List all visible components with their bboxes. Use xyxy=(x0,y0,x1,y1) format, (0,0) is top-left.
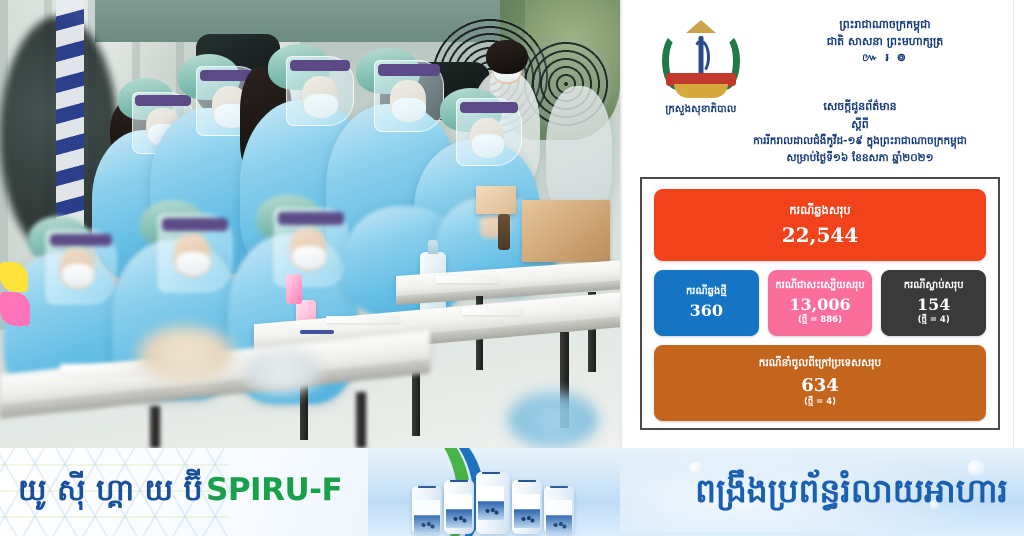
photo-faceshield-d xyxy=(374,60,444,132)
stat-imported-cases: ករណីនាំចូលពីក្រៅប្រទេសសរុប 634 (ថ្មី = 4… xyxy=(654,345,986,421)
stat-recovered-label: ករណីជាសះស្បើយសរុប xyxy=(775,279,864,292)
document-left-shadow xyxy=(620,0,623,448)
banner-brand-name: SPIRU-F xyxy=(206,472,342,508)
photo-foreground-blur-glove xyxy=(244,350,320,394)
photo-pen-1 xyxy=(300,330,334,334)
photo-paper-4 xyxy=(60,364,150,373)
stat-deaths-sub: (ថ្មី = 4) xyxy=(918,315,950,327)
emblem-torch-icon xyxy=(686,20,716,33)
product-bottle-2 xyxy=(444,480,474,534)
nation-title-line: ព្រះរាជាណាចក្រកម្ពុជា xyxy=(750,16,1020,33)
photo-cardboard-box-2 xyxy=(476,186,516,214)
bottle-label-3 xyxy=(478,486,504,520)
stat-new-cases-value: 360 xyxy=(690,301,723,320)
stat-imported-cases-label: ករណីនាំចូលពីក្រៅប្រទេសសរុប xyxy=(759,357,881,371)
bottle-label-1 xyxy=(414,500,440,534)
photo-person-background-2 xyxy=(546,86,612,216)
stat-recovered-sub: (ថ្មី = 886) xyxy=(798,315,842,327)
covid-testing-photo xyxy=(0,0,620,448)
photo-paper-2 xyxy=(326,316,400,323)
page-root: ក្រសួងសុខាភិបាល ព្រះរាជាណាចក្រកម្ពុជា ជា… xyxy=(0,0,1024,536)
stat-new-cases: ករណីឆ្លងថ្មី 360 xyxy=(654,270,759,336)
photo-faceshield-e xyxy=(456,98,522,166)
bottle-cap-4 xyxy=(518,480,536,482)
photo-yellow-marker xyxy=(0,262,28,292)
photo-pink-marker xyxy=(0,292,30,326)
photo-dark-vial xyxy=(498,214,510,250)
press-release-title-block: សេចក្ដីជូនព័ត៌មាន ស្ដីពី ការរីករាលដាលជំង… xyxy=(700,98,1020,167)
stat-total-cases: ករណីឆ្លងសរុប 22,544 xyxy=(654,189,986,261)
photo-mask-h xyxy=(292,246,326,270)
product-bottle-4 xyxy=(512,480,542,534)
nation-ornament: ៚ ៛ ៙ xyxy=(750,50,1020,65)
photo-shoe-cover xyxy=(508,392,598,448)
banner-product-bottles xyxy=(408,456,608,536)
title-date-line: សម្រាប់ថ្ងៃទី១៦ ខែឧសភា ឆ្នាំ២០២១ xyxy=(700,150,1020,167)
nation-motto-line: ជាតិ សាសនា ព្រះមហាក្សត្រ xyxy=(750,33,1020,50)
ministry-health-emblem-icon xyxy=(658,20,744,98)
photo-faceshield-c xyxy=(286,56,354,126)
bottle-cap-5 xyxy=(550,486,568,488)
bottle-cap-3 xyxy=(482,472,500,474)
photo-table-leg-6 xyxy=(356,392,366,448)
stat-new-cases-label: ករណីឆ្លងថ្មី xyxy=(686,285,727,298)
photo-paper-1 xyxy=(436,276,498,283)
product-bottle-1 xyxy=(412,486,442,534)
national-motto-block: ព្រះរាជាណាចក្រកម្ពុជា ជាតិ សាសនា ព្រះមហា… xyxy=(750,16,1020,65)
stat-imported-cases-value: 634 xyxy=(801,375,839,396)
stats-row-three: ករណីឆ្លងថ្មី 360 ករណីជាសះស្បើយសរុប 13,00… xyxy=(654,270,986,336)
photo-foreground-blur-object xyxy=(138,326,234,382)
product-bottle-5 xyxy=(544,486,574,534)
photo-mask-g xyxy=(176,252,210,276)
product-bottle-3 xyxy=(476,472,510,534)
photo-table-leg-7 xyxy=(150,406,160,448)
covid-statistics-frame: ករណីឆ្លងសរុប 22,544 ករណីឆ្លងថ្មី 360 ករណ… xyxy=(640,177,1000,430)
photo-pink-nozzle xyxy=(286,274,302,304)
photo-cardboard-box xyxy=(522,200,610,262)
bottle-label-2 xyxy=(446,494,472,528)
advertisement-banner[interactable]: យូ ស៊ី ហ្គា យ ប៊ី SPIRU-F xyxy=(0,448,1024,536)
title-line-1: សេចក្ដីជូនព័ត៌មាន xyxy=(700,98,1020,116)
bottle-cap-1 xyxy=(418,486,436,488)
stat-recovered: ករណីជាសះស្បើយសរុប 13,006 (ថ្មី = 886) xyxy=(768,270,873,336)
bottle-label-5 xyxy=(546,500,572,534)
stat-recovered-value: 13,006 xyxy=(789,295,850,314)
title-line-2: ស្ដីពី xyxy=(700,116,1020,134)
stat-deaths-value: 154 xyxy=(917,295,950,314)
stat-deaths: ករណីស្លាប់សរុប 154 (ថ្មី = 4) xyxy=(881,270,986,336)
stat-imported-cases-sub: (ថ្មី = 4) xyxy=(804,397,836,409)
emblem-base-icon xyxy=(674,84,728,98)
photo-paper-3 xyxy=(462,308,522,315)
bottle-label-4 xyxy=(514,494,540,528)
banner-tagline-khmer: ពង្រឹងប្រព័ន្ធរំលាយអាហារ xyxy=(695,466,1008,516)
emblem-serpent-icon xyxy=(692,40,710,74)
title-line-3: ការរីករាលដាលជំងឺកូវីដ-១៩ ក្នុងព្រះរាជាណា… xyxy=(700,133,1020,150)
photo-hair-background xyxy=(486,40,528,74)
stat-total-cases-label: ករណីឆ្លងសរុប xyxy=(789,203,851,218)
stat-deaths-label: ករណីស្លាប់សរុប xyxy=(904,279,964,292)
photo-mask-f xyxy=(62,264,94,288)
bottle-cap-2 xyxy=(450,480,468,482)
stat-total-cases-value: 22,544 xyxy=(782,223,859,247)
document-page-edge xyxy=(1013,0,1014,448)
